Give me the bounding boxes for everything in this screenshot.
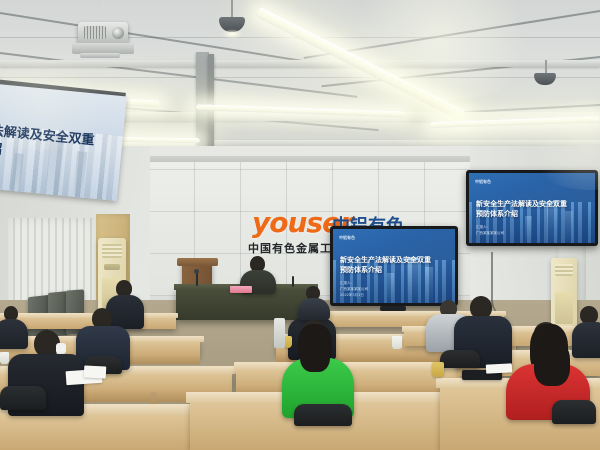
notebook-page — [84, 365, 107, 378]
tea-cup — [284, 336, 292, 348]
chair-back — [552, 400, 596, 424]
conference-room-photo: youser 中铝有色 中国有色金属工业西 法解读及安全双重 绍 中铝有色 新安… — [0, 0, 600, 450]
slide-corner-logo: 中铝有色 — [475, 179, 491, 185]
slide-subtitle-line1: 汇报人: — [340, 281, 352, 286]
right-slide-title-line1: 新安全生产法解读及安全双重 — [476, 199, 567, 209]
desk-microphone — [292, 276, 294, 287]
thermos-flask — [274, 318, 285, 348]
slide-subtitle-line2: 广西某某某某公司 — [340, 287, 368, 292]
desk-item — [0, 352, 9, 364]
chair-back — [0, 386, 46, 410]
projector-mount-rod — [102, 0, 105, 24]
slide-title-line2: 预防体系介绍 — [340, 265, 382, 275]
right-display-monitor: 中铝有色 新安全生产法解读及安全双重 预防体系介绍 汇报人: 广西某某某某公司 — [466, 170, 598, 246]
paper-cup — [392, 336, 402, 349]
left-projection-screen: 法解读及安全双重 绍 — [0, 84, 127, 201]
presenter-nameplate — [230, 286, 252, 293]
right-slide-subtitle-line1: 汇报人: — [476, 225, 488, 230]
pendant-lamp-rod — [231, 0, 233, 18]
desk-microphone — [196, 272, 198, 286]
podium-top — [177, 258, 218, 266]
microphone-head — [194, 269, 199, 274]
pendant-lamp-rod — [545, 60, 547, 74]
face-mask — [56, 343, 66, 354]
projector-lens — [112, 27, 124, 39]
chair-back — [294, 404, 352, 426]
slide-corner-logo: 中铝有色 — [339, 235, 355, 241]
right-slide-title-line2: 预防体系介绍 — [476, 209, 518, 219]
slide-title-line1: 新安全生产法解读及安全双重 — [340, 255, 431, 265]
chair-back — [440, 350, 480, 368]
right-slide-subtitle-line2: 广西某某某某公司 — [476, 231, 504, 236]
tea-cup — [432, 362, 444, 377]
hanging-cable — [491, 252, 513, 318]
main-display-monitor: 中铝有色 新安全生产法解读及安全双重 预防体系介绍 汇报人: 广西某某某某公司 … — [330, 226, 458, 306]
slide-subtitle-line3: 2022年3月1日 — [340, 293, 364, 298]
white-paper — [486, 363, 512, 373]
